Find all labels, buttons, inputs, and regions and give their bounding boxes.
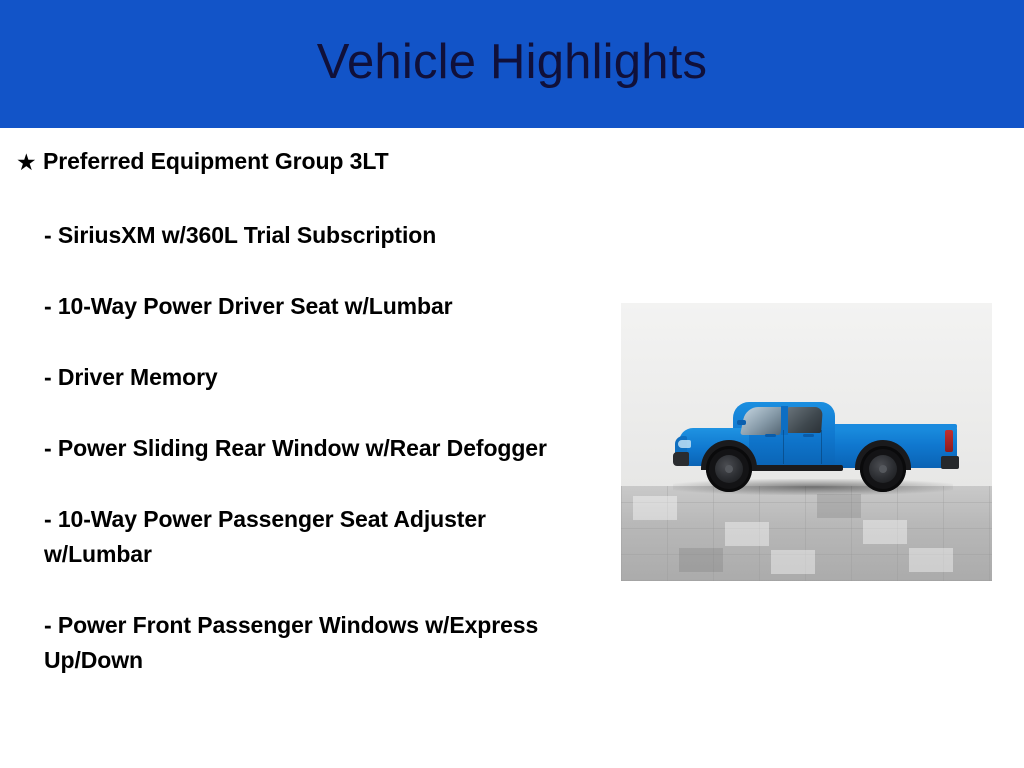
header-banner: Vehicle Highlights bbox=[0, 0, 1024, 128]
photo-ground bbox=[621, 486, 992, 581]
list-item: - 10-Way Power Driver Seat w/Lumbar bbox=[44, 289, 574, 324]
truck-illustration bbox=[673, 396, 957, 496]
truck-rear-bumper bbox=[941, 456, 959, 469]
slide-body: ★ Preferred Equipment Group 3LT - Sirius… bbox=[0, 128, 1024, 768]
truck-front-window bbox=[740, 407, 786, 435]
truck-front-bumper bbox=[673, 452, 689, 466]
paver-tile bbox=[633, 496, 677, 520]
truck-wheel-hub bbox=[725, 465, 733, 473]
truck-door-handle bbox=[803, 434, 814, 437]
vehicle-photo bbox=[621, 303, 992, 581]
group-heading-row: ★ Preferred Equipment Group 3LT bbox=[0, 148, 600, 174]
star-icon: ★ bbox=[16, 149, 43, 175]
page-title: Vehicle Highlights bbox=[317, 38, 707, 87]
truck-side-mirror bbox=[737, 420, 746, 425]
group-heading-label: Preferred Equipment Group 3LT bbox=[43, 148, 389, 174]
truck-rear-window bbox=[785, 407, 823, 433]
list-item: - 10-Way Power Passenger Seat Adjuster w… bbox=[44, 502, 574, 572]
list-item: - SiriusXM w/360L Trial Subscription bbox=[44, 218, 574, 253]
truck-taillight bbox=[945, 430, 953, 452]
paver-tile bbox=[817, 494, 861, 518]
list-item: - Power Sliding Rear Window w/Rear Defog… bbox=[44, 431, 574, 466]
truck-wheel bbox=[706, 446, 752, 492]
truck-door-seam bbox=[783, 430, 784, 464]
truck-door-handle bbox=[765, 434, 776, 437]
paver-tile bbox=[863, 520, 907, 544]
paver-tile bbox=[771, 550, 815, 574]
truck-wheel bbox=[860, 446, 906, 492]
highlights-list: ★ Preferred Equipment Group 3LT - Sirius… bbox=[0, 128, 600, 678]
highlight-group: ★ Preferred Equipment Group 3LT - Sirius… bbox=[0, 148, 600, 678]
paver-tile bbox=[679, 548, 723, 572]
truck-wheel-hub bbox=[879, 465, 887, 473]
paver-tile bbox=[909, 548, 953, 572]
truck-bed-rail bbox=[821, 424, 957, 429]
truck-headlight bbox=[678, 440, 691, 448]
truck-door-seam bbox=[821, 430, 822, 464]
list-item: - Driver Memory bbox=[44, 360, 574, 395]
paver-tile bbox=[725, 522, 769, 546]
list-item: - Power Front Passenger Windows w/Expres… bbox=[44, 608, 574, 678]
